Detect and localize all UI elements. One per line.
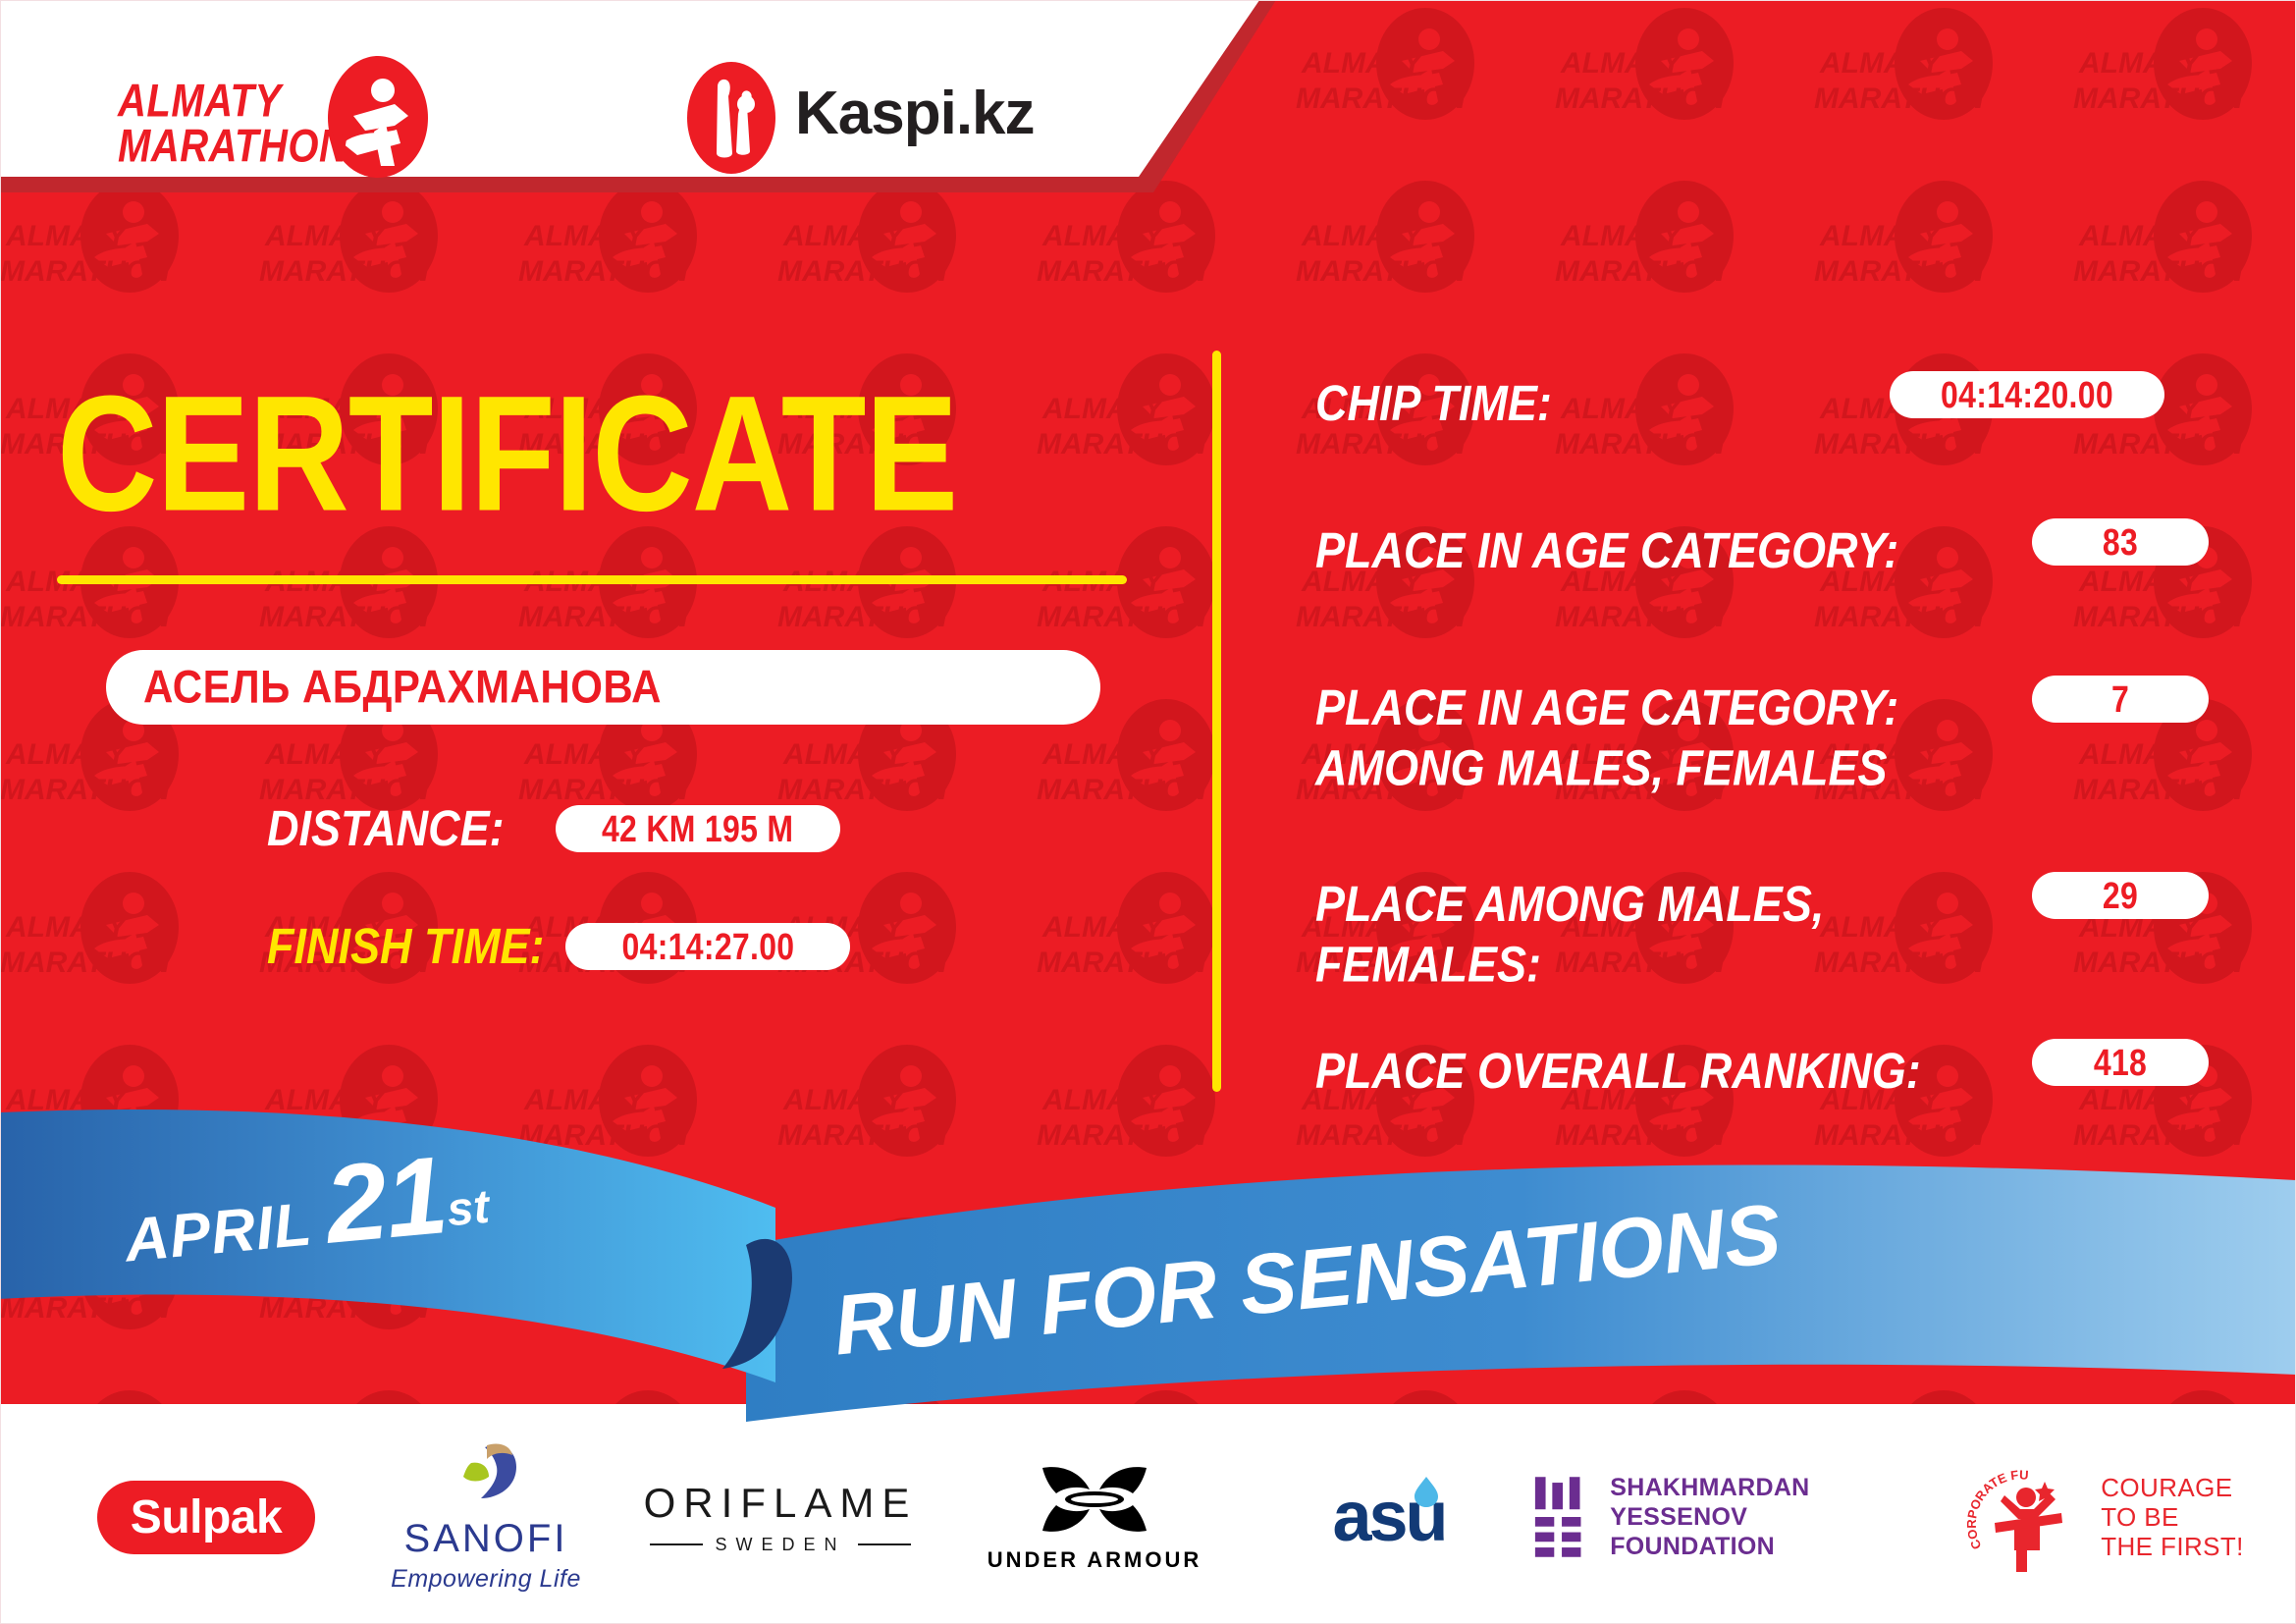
place-among-gender-value-pill: 29: [2032, 872, 2209, 919]
ribbon-day: 21: [320, 1133, 451, 1267]
courage-runner-icon: CORPORATE FUND: [1967, 1458, 2085, 1576]
ribbon-ordinal: st: [445, 1181, 491, 1237]
sponsor-under-armour: UNDER ARMOUR: [942, 1443, 1247, 1591]
sponsor-yessenov-foundation: SHAKHMARDAN YESSENOV FOUNDATION: [1531, 1443, 1944, 1591]
place-age-category-gender-value: 7: [2111, 677, 2129, 721]
almaty-marathon-logo: ALMATY MARATHON: [118, 61, 432, 179]
sponsor-bar: Sulpak SANOFI Empowering Life ORIFLAME S…: [0, 1424, 2296, 1610]
distance-value: 42 KM 195 M: [602, 807, 793, 850]
place-age-category-gender-label: PLACE IN AGE CATEGORY: AMONG MALES, FEMA…: [1315, 677, 1898, 798]
oriflame-wordmark: ORIFLAME: [644, 1480, 918, 1527]
under-armour-icon: [1031, 1462, 1158, 1537]
place-age-category-gender-value-pill: 7: [2032, 676, 2209, 723]
place-overall-label: PLACE OVERALL RANKING:: [1315, 1041, 1921, 1102]
distance-label: DISTANCE:: [267, 799, 505, 857]
yessenov-line-1: SHAKHMARDAN YESSENOV: [1610, 1473, 1944, 1532]
courage-line-3: THE FIRST!: [2101, 1532, 2244, 1561]
chip-time-value-pill: 04:14:20.00: [1890, 371, 2164, 418]
page-title: CERTIFICATE: [57, 378, 957, 531]
kaspi-logo: Kaspi.kz: [677, 59, 1090, 177]
sulpak-wordmark: Sulpak: [97, 1481, 315, 1554]
stat-row-place-age-category: PLACE IN AGE CATEGORY: 83: [1296, 520, 2209, 677]
courage-line-2: TO BE: [2101, 1502, 2244, 1532]
oriflame-subtext: SWEDEN: [644, 1535, 918, 1555]
sanofi-leaf-icon: [442, 1441, 530, 1512]
sponsor-sanofi: SANOFI Empowering Life: [353, 1443, 618, 1591]
asu-droplet-icon: [1413, 1475, 1440, 1508]
finish-time-label: FINISH TIME:: [267, 917, 544, 975]
place-among-gender-value: 29: [2103, 874, 2138, 917]
place-age-category-value-pill: 83: [2032, 518, 2209, 566]
sponsor-oriflame: ORIFLAME SWEDEN: [618, 1443, 942, 1591]
asu-wordmark: asu: [1332, 1477, 1445, 1557]
almaty-marathon-wordmark: ALMATY MARATHON: [118, 75, 353, 165]
finish-time-row: FINISH TIME: 04:14:27.00: [267, 921, 850, 972]
chip-time-label: CHIP TIME:: [1315, 373, 1552, 434]
participant-name-field: АСЕЛЬ АБДРАХМАНОВА: [106, 650, 1100, 725]
distance-row: DISTANCE: 42 KM 195 M: [267, 803, 840, 854]
yessenov-line-2: FOUNDATION: [1610, 1532, 1944, 1561]
kaspi-people-icon: [677, 59, 785, 177]
sponsor-asu: asu: [1247, 1443, 1531, 1591]
place-among-gender-label: PLACE AMONG MALES, FEMALES:: [1315, 874, 1824, 995]
finish-time-value-pill: 04:14:27.00: [565, 923, 850, 970]
stat-row-chip-time: CHIP TIME: 04:14:20.00: [1296, 373, 2209, 520]
place-overall-value: 418: [2094, 1041, 2147, 1084]
under-armour-wordmark: UNDER ARMOUR: [988, 1547, 1202, 1573]
kaspi-wordmark: Kaspi.kz: [795, 79, 1035, 148]
vertical-divider: [1212, 351, 1221, 1092]
sanofi-tagline: Empowering Life: [391, 1565, 581, 1594]
stat-row-place-age-category-gender: PLACE IN AGE CATEGORY: AMONG MALES, FEMA…: [1296, 677, 2209, 874]
chip-time-value: 04:14:20.00: [1941, 373, 2113, 416]
participant-name: АСЕЛЬ АБДРАХМАНОВА: [143, 661, 662, 714]
title-underline: [57, 575, 1127, 584]
place-overall-value-pill: 418: [2032, 1039, 2209, 1086]
sponsor-sulpak: Sulpak: [59, 1443, 353, 1591]
logo-line-2: MARATHON: [118, 120, 353, 173]
yessenov-bars-icon: [1531, 1474, 1588, 1560]
ribbon-month: APRIL: [122, 1190, 314, 1274]
courage-line-1: COURAGE: [2101, 1473, 2244, 1502]
place-age-category-value: 83: [2103, 520, 2138, 564]
distance-value-pill: 42 KM 195 M: [556, 805, 840, 852]
sanofi-wordmark: SANOFI: [391, 1517, 581, 1561]
stat-row-place-among-gender: PLACE AMONG MALES, FEMALES: 29: [1296, 874, 2209, 1041]
finish-time-value: 04:14:27.00: [622, 925, 795, 968]
place-age-category-label: PLACE IN AGE CATEGORY:: [1315, 520, 1898, 581]
certificate-page: ALMATY MARATHON ALMATY MARATHON: [0, 0, 2296, 1624]
stats-panel: CHIP TIME: 04:14:20.00 PLACE IN AGE CATE…: [1296, 373, 2209, 1129]
sponsor-courage-fund: CORPORATE FUND COURAGE TO BE THE FIRST!: [1944, 1443, 2268, 1591]
